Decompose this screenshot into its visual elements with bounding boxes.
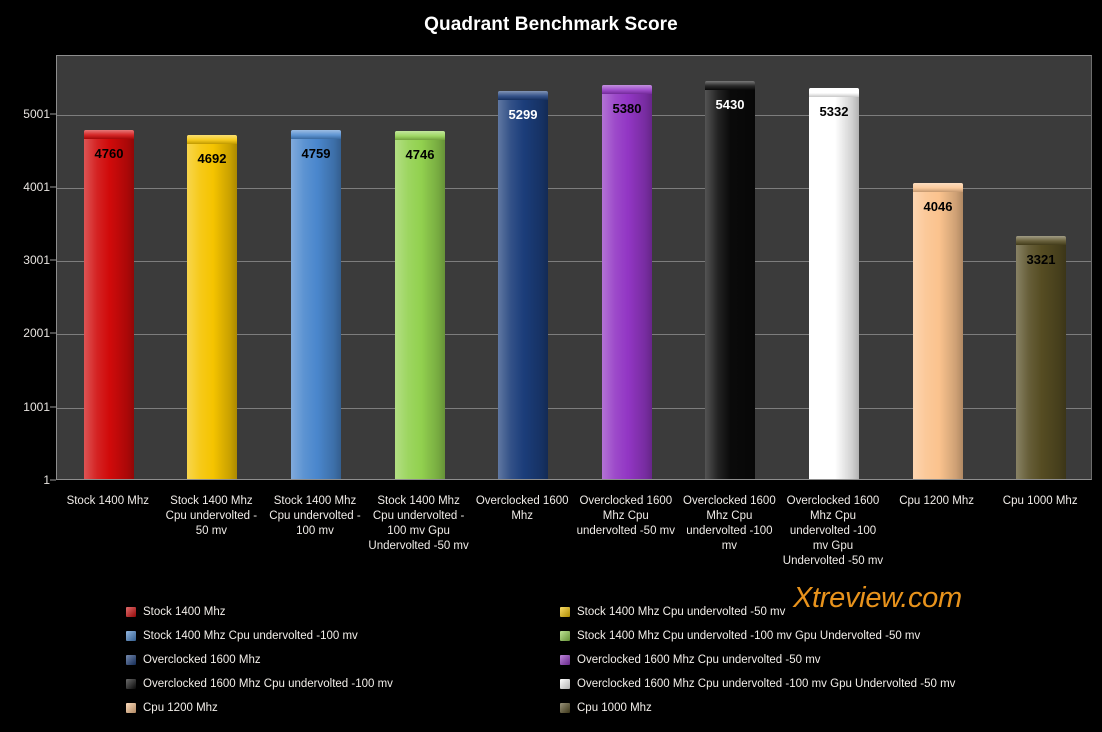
bar-top-cap <box>395 131 445 140</box>
y-axis-tick-mark <box>50 406 56 407</box>
chart-legend: Stock 1400 MhzStock 1400 Mhz Cpu undervo… <box>126 606 1086 726</box>
legend-item[interactable]: Stock 1400 Mhz Cpu undervolted -50 mv <box>560 606 785 618</box>
bar: 3321 <box>1016 236 1066 479</box>
y-axis-tick-label: 3001 <box>2 253 50 267</box>
bar-top-cap <box>1016 236 1066 245</box>
gridline <box>57 115 1091 116</box>
y-axis-tick-mark <box>50 333 56 334</box>
y-axis-tick-label: 1001 <box>2 400 50 414</box>
bar: 5299 <box>498 91 548 479</box>
y-axis-tick-mark <box>50 113 56 114</box>
legend-swatch-icon <box>126 655 136 665</box>
legend-label: Stock 1400 Mhz Cpu undervolted -50 mv <box>577 606 785 618</box>
legend-label: Stock 1400 Mhz Cpu undervolted -100 mv <box>143 630 358 642</box>
bar-value-label: 4692 <box>198 151 227 166</box>
legend-label: Overclocked 1600 Mhz <box>143 654 261 666</box>
y-axis-tick-mark <box>50 186 56 187</box>
y-axis-tick-label: 1 <box>2 473 50 487</box>
legend-item[interactable]: Overclocked 1600 Mhz Cpu undervolted -50… <box>560 654 821 666</box>
legend-label: Cpu 1000 Mhz <box>577 702 652 714</box>
bar-top-cap <box>809 88 859 97</box>
x-axis-tick-label: Stock 1400 Mhz Cpu undervolted - 50 mv <box>160 494 264 539</box>
legend-swatch-icon <box>560 703 570 713</box>
y-axis-tick-label: 2001 <box>2 326 50 340</box>
bar: 4760 <box>84 130 134 479</box>
bar-value-label: 4759 <box>302 146 331 161</box>
x-axis-tick-label: Overclocked 1600 Mhz Cpu undervolted -10… <box>678 494 782 554</box>
bar: 4759 <box>291 130 341 479</box>
x-axis-tick-label: Overclocked 1600 Mhz Cpu undervolted -10… <box>781 494 885 569</box>
bar: 4046 <box>913 183 963 479</box>
bar-value-label: 4746 <box>406 147 435 162</box>
bar-value-label: 4760 <box>95 146 124 161</box>
x-axis-tick-label: Stock 1400 Mhz Cpu undervolted - 100 mv <box>263 494 367 539</box>
legend-swatch-icon <box>126 607 136 617</box>
x-axis-tick-label: Overclocked 1600 Mhz <box>470 494 574 524</box>
legend-swatch-icon <box>560 607 570 617</box>
y-axis-tick-mark <box>50 480 56 481</box>
legend-item[interactable]: Overclocked 1600 Mhz Cpu undervolted -10… <box>560 678 955 690</box>
bar-value-label: 3321 <box>1027 252 1056 267</box>
bar-value-label: 5380 <box>613 101 642 116</box>
bar: 4746 <box>395 131 445 479</box>
x-axis-tick-label: Cpu 1200 Mhz <box>885 494 989 509</box>
bar: 4692 <box>187 135 237 479</box>
legend-label: Overclocked 1600 Mhz Cpu undervolted -50… <box>577 654 821 666</box>
legend-item[interactable]: Overclocked 1600 Mhz <box>126 654 261 666</box>
x-axis-tick-label: Cpu 1000 Mhz <box>988 494 1092 509</box>
legend-item[interactable]: Cpu 1000 Mhz <box>560 702 652 714</box>
bar-value-label: 5332 <box>820 104 849 119</box>
legend-label: Cpu 1200 Mhz <box>143 702 218 714</box>
legend-item[interactable]: Cpu 1200 Mhz <box>126 702 218 714</box>
bar-top-cap <box>913 183 963 192</box>
x-axis-tick-label: Overclocked 1600 Mhz Cpu undervolted -50… <box>574 494 678 539</box>
bar-value-label: 5430 <box>716 97 745 112</box>
y-axis-tick-label: 5001 <box>2 107 50 121</box>
plot-area: 4760469247594746529953805430533240463321 <box>56 55 1092 480</box>
bar-top-cap <box>187 135 237 144</box>
legend-label: Overclocked 1600 Mhz Cpu undervolted -10… <box>577 678 955 690</box>
legend-swatch-icon <box>560 631 570 641</box>
legend-label: Overclocked 1600 Mhz Cpu undervolted -10… <box>143 678 393 690</box>
legend-item[interactable]: Stock 1400 Mhz Cpu undervolted -100 mv <box>126 630 358 642</box>
chart-title: Quadrant Benchmark Score <box>0 14 1102 36</box>
x-axis-tick-label: Stock 1400 Mhz Cpu undervolted - 100 mv … <box>367 494 471 554</box>
legend-label: Stock 1400 Mhz <box>143 606 225 618</box>
legend-item[interactable]: Stock 1400 Mhz <box>126 606 225 618</box>
bar-top-cap <box>291 130 341 139</box>
y-axis-tick-mark <box>50 260 56 261</box>
watermark: Xtreview.com <box>793 582 962 615</box>
legend-item[interactable]: Stock 1400 Mhz Cpu undervolted -100 mv G… <box>560 630 920 642</box>
legend-label: Stock 1400 Mhz Cpu undervolted -100 mv G… <box>577 630 920 642</box>
legend-swatch-icon <box>560 655 570 665</box>
bar-value-label: 5299 <box>509 107 538 122</box>
chart-container: Quadrant Benchmark Score 476046924759474… <box>0 0 1102 732</box>
bar: 5430 <box>705 81 755 479</box>
bar: 5380 <box>602 85 652 479</box>
bar-top-cap <box>705 81 755 90</box>
bar-top-cap <box>84 130 134 139</box>
bar-top-cap <box>602 85 652 94</box>
legend-swatch-icon <box>560 679 570 689</box>
x-axis-tick-label: Stock 1400 Mhz <box>56 494 160 509</box>
legend-swatch-icon <box>126 703 136 713</box>
bar-top-cap <box>498 91 548 100</box>
legend-swatch-icon <box>126 679 136 689</box>
bar-value-label: 4046 <box>924 199 953 214</box>
bar: 5332 <box>809 88 859 479</box>
y-axis-tick-label: 4001 <box>2 180 50 194</box>
legend-swatch-icon <box>126 631 136 641</box>
legend-item[interactable]: Overclocked 1600 Mhz Cpu undervolted -10… <box>126 678 393 690</box>
